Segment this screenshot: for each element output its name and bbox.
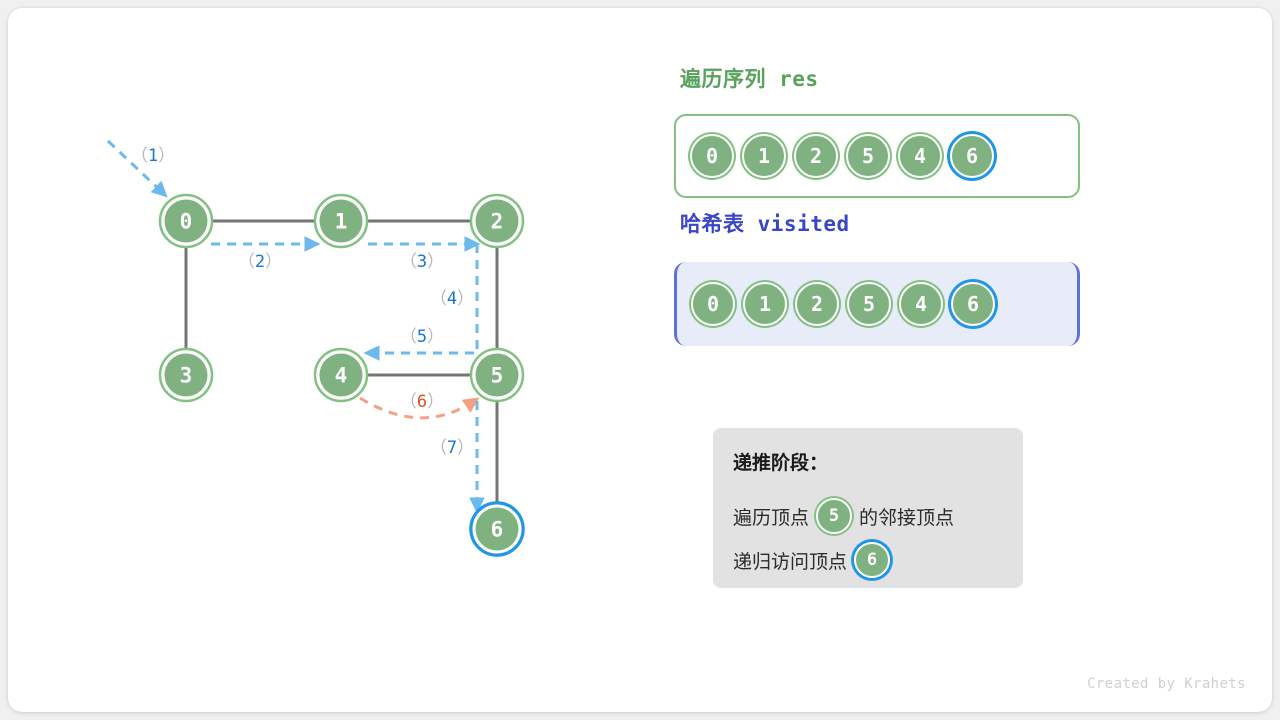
graph-diagram: （1）（2）（3）（4）（5）（6）（7） 0123456 bbox=[8, 8, 648, 712]
visited-cell-0: 0 bbox=[691, 282, 735, 326]
res-section-title: 遍历序列 res bbox=[680, 63, 819, 93]
phase-box: 递推阶段： 遍历顶点 5 的邻接顶点 递归访问顶点 6 bbox=[713, 428, 1023, 588]
vertex-label: 3 bbox=[180, 364, 193, 388]
visited-cell-6: 6 bbox=[951, 282, 995, 326]
visited-cell-row: 012546 bbox=[691, 262, 995, 346]
visited-section-title: 哈希表 visited bbox=[680, 208, 850, 238]
phase-title: 递推阶段： bbox=[733, 448, 828, 475]
step-label-6: （6） bbox=[400, 392, 444, 412]
step-label-1: （1） bbox=[131, 146, 175, 166]
visited-cell-1: 1 bbox=[743, 282, 787, 326]
vertex-label: 2 bbox=[491, 210, 504, 234]
res-cell-2: 2 bbox=[794, 134, 838, 178]
graph-vertex-4[interactable]: 4 bbox=[315, 349, 367, 401]
step-label-4: （4） bbox=[430, 289, 474, 309]
graph-vertex-1[interactable]: 1 bbox=[315, 195, 367, 247]
visited-cell-2: 2 bbox=[795, 282, 839, 326]
credit-text: Created by Krahets bbox=[1087, 676, 1246, 692]
step-label-2: （2） bbox=[238, 252, 282, 272]
res-cell-4: 4 bbox=[898, 134, 942, 178]
vertex-label: 1 bbox=[335, 210, 348, 234]
res-cell-5: 5 bbox=[846, 134, 890, 178]
phase-line2-prefix: 递归访问顶点 bbox=[733, 547, 847, 574]
graph-svg: （1）（2）（3）（4）（5）（6）（7） 0123456 bbox=[8, 8, 648, 712]
visited-box: 012546 bbox=[674, 262, 1080, 346]
vertex-label: 6 bbox=[491, 518, 504, 542]
phase-inline-node-5: 5 bbox=[816, 498, 852, 534]
res-cell-0: 0 bbox=[690, 134, 734, 178]
vertex-label: 0 bbox=[180, 210, 193, 234]
res-cell-row: 012546 bbox=[690, 116, 994, 196]
visited-cell-5: 5 bbox=[847, 282, 891, 326]
phase-line1-suffix: 的邻接顶点 bbox=[859, 503, 954, 530]
res-cell-6: 6 bbox=[950, 134, 994, 178]
phase-line-traverse: 遍历顶点 5 的邻接顶点 bbox=[733, 498, 954, 534]
step-label-layer: （1）（2）（3）（4）（5）（6）（7） bbox=[131, 146, 474, 458]
traversal-arrow-layer bbox=[108, 141, 477, 507]
res-cell-1: 1 bbox=[742, 134, 786, 178]
step-label-7: （7） bbox=[430, 438, 474, 458]
phase-inline-node-6: 6 bbox=[854, 542, 890, 578]
graph-vertex-5[interactable]: 5 bbox=[471, 349, 523, 401]
graph-vertex-2[interactable]: 2 bbox=[471, 195, 523, 247]
res-box: 012546 bbox=[674, 114, 1080, 198]
phase-line-recurse: 递归访问顶点 6 bbox=[733, 542, 890, 578]
step-label-5: （5） bbox=[400, 327, 444, 347]
phase-line1-prefix: 遍历顶点 bbox=[733, 503, 809, 530]
step-label-3: （3） bbox=[400, 252, 444, 272]
visited-cell-4: 4 bbox=[899, 282, 943, 326]
graph-vertex-6[interactable]: 6 bbox=[471, 503, 523, 555]
right-panel: 遍历序列 res 012546 哈希表 visited 012546 递推阶段：… bbox=[668, 8, 1268, 712]
vertex-label: 5 bbox=[491, 364, 504, 388]
graph-vertex-0[interactable]: 0 bbox=[160, 195, 212, 247]
vertex-label: 4 bbox=[335, 364, 348, 388]
graph-vertex-3[interactable]: 3 bbox=[160, 349, 212, 401]
page-card: （1）（2）（3）（4）（5）（6）（7） 0123456 遍历序列 res 0… bbox=[8, 8, 1272, 712]
